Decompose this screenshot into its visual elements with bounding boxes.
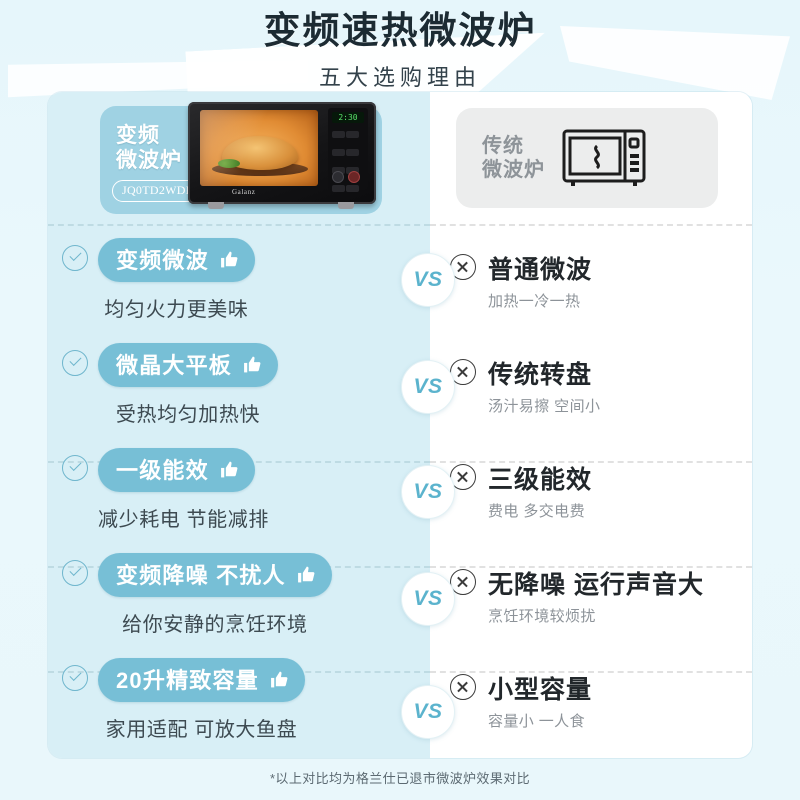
- con-rows: 普通微波 加热一冷一热 传统转盘 汤汁易擦 空间小 三级能效: [430, 224, 752, 749]
- pro-row: 变频降噪 不扰人 给你安静的烹饪环境: [48, 539, 430, 644]
- product-name-line1: 变频: [116, 124, 160, 147]
- thumbs-up-icon: [242, 355, 262, 374]
- pro-row: 变频微波 均匀火力更美味: [48, 224, 430, 329]
- pro-row: 微晶大平板 受热均匀加热快: [48, 329, 430, 434]
- thumbs-up-icon: [269, 670, 289, 689]
- vs-badge: VS: [401, 360, 455, 414]
- con-row-body: 传统转盘 汤汁易擦 空间小: [488, 355, 600, 416]
- microwave-outline-icon: [561, 127, 647, 189]
- pro-title: 变频降噪 不扰人: [116, 558, 286, 590]
- traditional-name-line1: 传统: [482, 135, 524, 157]
- pro-title-pill: 一级能效: [98, 448, 255, 492]
- traditional-name-card: 传统 微波炉: [456, 108, 718, 208]
- pro-title: 微晶大平板: [116, 348, 232, 380]
- traditional-header-row: 传统 微波炉: [430, 92, 752, 224]
- vs-badge: VS: [401, 572, 455, 626]
- pro-title-pill: 微晶大平板: [98, 343, 278, 387]
- vs-badge: VS: [401, 253, 455, 307]
- page-subtitle: 五大选购理由: [0, 60, 800, 92]
- check-circle-icon: [62, 245, 88, 271]
- pro-title: 变频微波: [116, 243, 209, 275]
- pro-row-body: 变频降噪 不扰人 给你安静的烹饪环境: [98, 553, 332, 637]
- pro-row-body: 一级能效 减少耗电 节能减排: [98, 448, 269, 532]
- comparison-board: 变频 微波炉 JQ0TD2WDB1 2:30: [48, 92, 752, 758]
- footnote: *以上对比均为格兰仕已退市微波炉效果对比: [0, 768, 800, 787]
- pro-row-body: 变频微波 均匀火力更美味: [98, 238, 255, 322]
- con-subtitle: 容量小 一人食: [488, 710, 592, 731]
- con-title: 无降噪 运行声音大: [488, 565, 704, 601]
- pro-title: 一级能效: [116, 453, 209, 485]
- con-subtitle: 汤汁易擦 空间小: [488, 395, 600, 416]
- con-title: 小型容量: [488, 670, 592, 706]
- oven-knobs: [332, 170, 364, 188]
- oven-control-panel: 2:30: [328, 108, 368, 190]
- pro-title-pill: 变频降噪 不扰人: [98, 553, 332, 597]
- thumbs-up-icon: [219, 250, 239, 269]
- infographic-page: 变频速热微波炉 五大选购理由 变频 微波炉 JQ0TD2WDB1: [0, 0, 800, 800]
- traditional-name: 传统 微波炉: [482, 134, 545, 182]
- con-subtitle: 烹饪环境较烦扰: [488, 605, 704, 626]
- glass-reflection: [200, 110, 318, 186]
- con-title: 普通微波: [488, 250, 592, 286]
- vs-badge: VS: [401, 465, 455, 519]
- check-circle-icon: [62, 665, 88, 691]
- pro-subtitle: 给你安静的烹饪环境: [98, 608, 332, 637]
- check-circle-icon: [62, 455, 88, 481]
- product-header-row: 变频 微波炉 JQ0TD2WDB1 2:30: [48, 92, 430, 224]
- product-name: 变频 微波炉: [116, 124, 182, 174]
- pro-subtitle: 受热均匀加热快: [98, 398, 278, 427]
- con-row-body: 小型容量 容量小 一人食: [488, 670, 592, 731]
- cross-circle-icon: [450, 674, 476, 700]
- con-subtitle: 费电 多交电费: [488, 500, 592, 521]
- thumbs-up-icon: [219, 460, 239, 479]
- oven-brand-logo: Galanz: [232, 188, 255, 196]
- pro-row: 一级能效 减少耗电 节能减排: [48, 434, 430, 539]
- pro-title-pill: 20升精致容量: [98, 658, 305, 702]
- pro-subtitle: 家用适配 可放大鱼盘: [98, 713, 305, 742]
- product-column: 变频 微波炉 JQ0TD2WDB1 2:30: [48, 92, 430, 758]
- pro-subtitle: 减少耗电 节能减排: [98, 503, 269, 532]
- oven-display: 2:30: [332, 112, 364, 123]
- microwave-product-photo: 2:30 Galanz: [188, 98, 376, 214]
- traditional-name-line2: 微波炉: [482, 159, 545, 181]
- con-row: 传统转盘 汤汁易擦 空间小: [430, 329, 752, 434]
- pro-title: 20升精致容量: [116, 663, 259, 695]
- check-circle-icon: [62, 350, 88, 376]
- con-row: 三级能效 费电 多交电费: [430, 434, 752, 539]
- con-row: 普通微波 加热一冷一热: [430, 224, 752, 329]
- oven-feet: [202, 202, 362, 210]
- oven-door-window: [200, 110, 318, 186]
- con-title: 传统转盘: [488, 355, 600, 391]
- pro-row-body: 20升精致容量 家用适配 可放大鱼盘: [98, 658, 305, 742]
- traditional-column: 传统 微波炉: [430, 92, 752, 758]
- pro-row-body: 微晶大平板 受热均匀加热快: [98, 343, 278, 427]
- con-row-body: 三级能效 费电 多交电费: [488, 460, 592, 521]
- con-title: 三级能效: [488, 460, 592, 496]
- pro-rows: 变频微波 均匀火力更美味 微晶大平板: [48, 224, 430, 749]
- pro-row: 20升精致容量 家用适配 可放大鱼盘: [48, 644, 430, 749]
- page-title: 变频速热微波炉: [0, 8, 800, 54]
- con-row-body: 无降噪 运行声音大 烹饪环境较烦扰: [488, 565, 704, 626]
- con-subtitle: 加热一冷一热: [488, 290, 592, 311]
- con-row: 小型容量 容量小 一人食: [430, 644, 752, 749]
- page-header: 变频速热微波炉 五大选购理由: [0, 8, 800, 92]
- check-circle-icon: [62, 560, 88, 586]
- con-row-body: 普通微波 加热一冷一热: [488, 250, 592, 311]
- vs-badge: VS: [401, 685, 455, 739]
- pro-title-pill: 变频微波: [98, 238, 255, 282]
- pro-subtitle: 均匀火力更美味: [98, 293, 255, 322]
- thumbs-up-icon: [296, 565, 316, 584]
- product-name-line2: 微波炉: [116, 149, 182, 172]
- con-row: 无降噪 运行声音大 烹饪环境较烦扰: [430, 539, 752, 644]
- oven-keypad: [332, 128, 364, 200]
